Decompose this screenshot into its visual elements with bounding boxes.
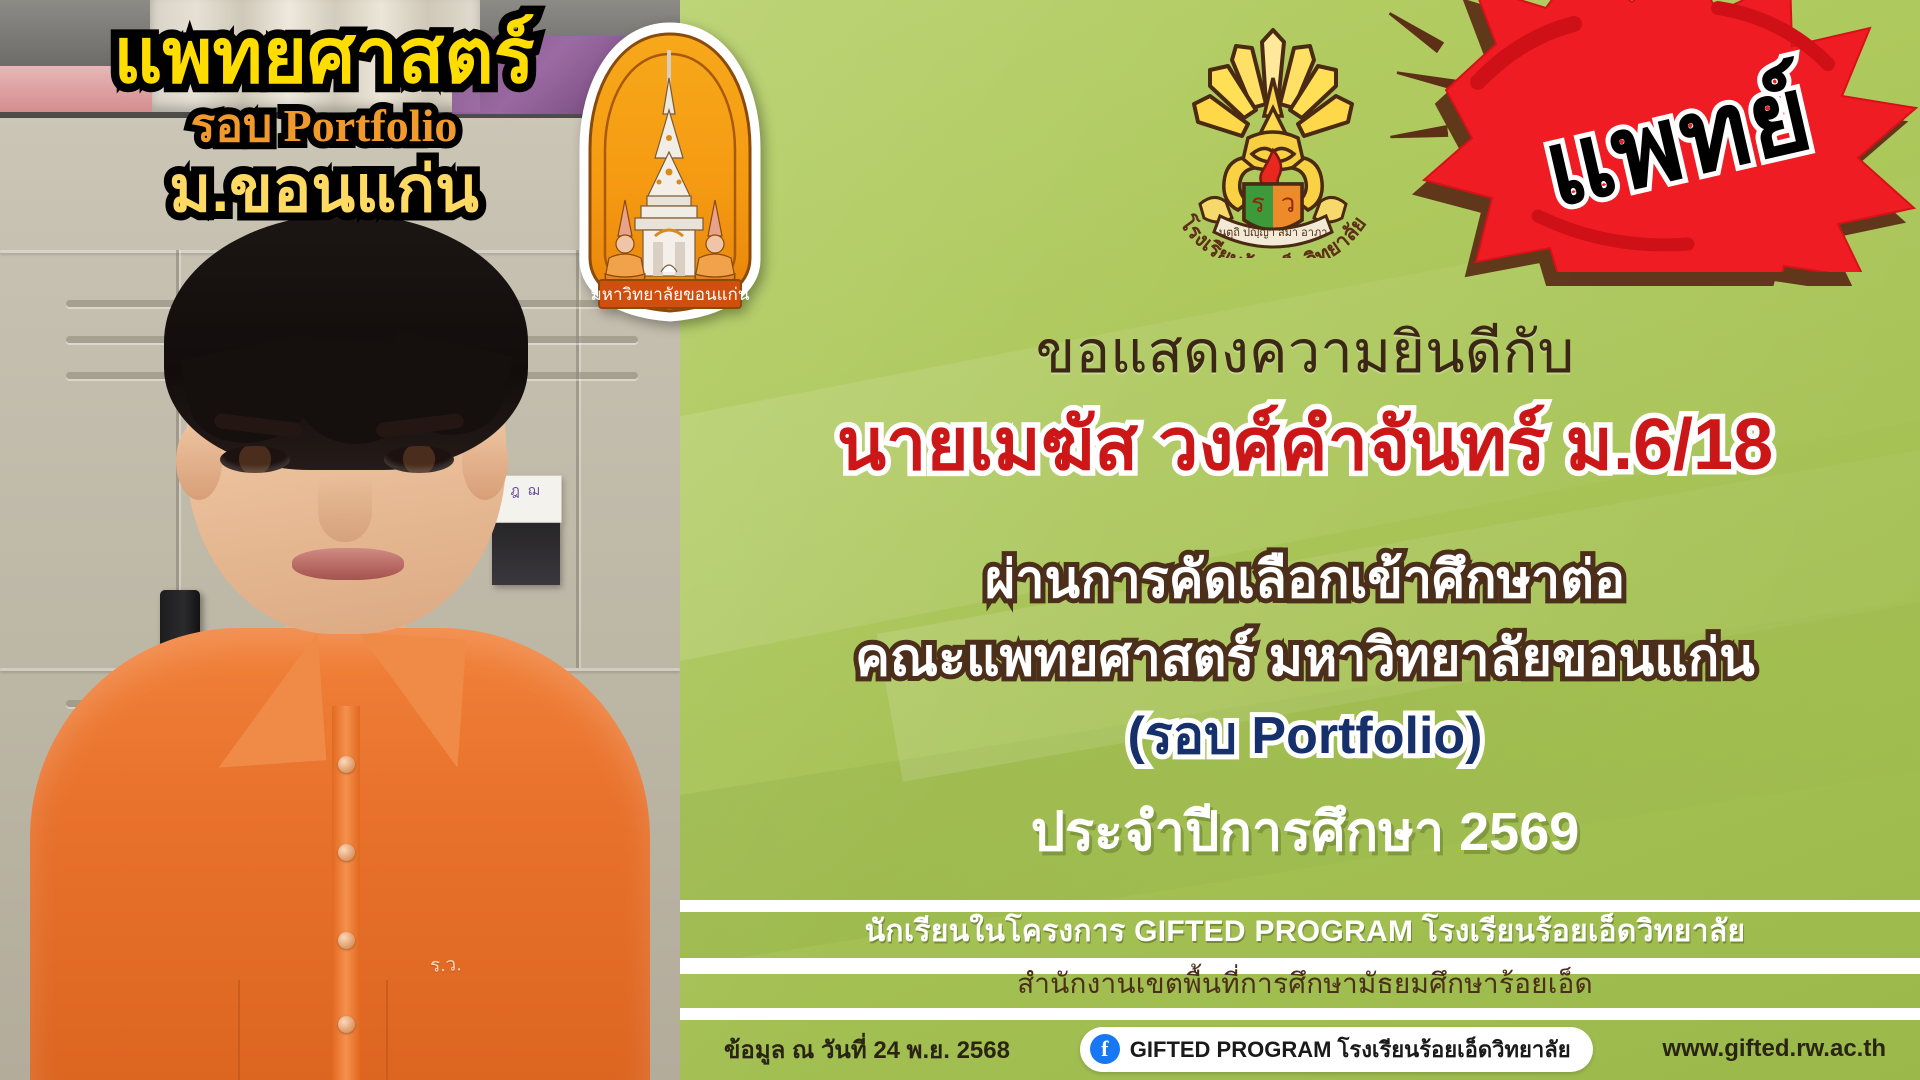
body-line-1: ผ่านการคัดเลือกเข้าศึกษาต่อ	[690, 550, 1920, 610]
headline-line3: ม.ขอนแก่น	[24, 154, 624, 226]
mouth	[292, 548, 404, 580]
facebook-icon: f	[1090, 1034, 1120, 1064]
congratulations-poster: ฎ ฌ ร.ว.	[0, 0, 1920, 1080]
kku-caption-text: มหาวิทยาลัยขอนแก่น	[591, 285, 750, 304]
svg-text:ว: ว	[1281, 188, 1296, 218]
footer-office-text: สำนักงานเขตพื้นที่การศึกษามัธยมศึกษาร้อย…	[690, 962, 1920, 1006]
svg-text:ร: ร	[1251, 188, 1265, 218]
academic-year-text: ประจำปีการศึกษา 2569	[690, 788, 1920, 874]
congratulations-text: ขอแสดงความยินดีกับ	[690, 305, 1920, 398]
shirt-collar-right	[350, 632, 467, 767]
headline-line2: รอบ Portfolio	[24, 98, 624, 154]
shirt-embroidery: ร.ว.	[429, 949, 462, 981]
headline-block: แพทยศาสตร์ รอบ Portfolio ม.ขอนแก่น	[24, 16, 624, 226]
footer-program-text: นักเรียนในโครงการ GIFTED PROGRAM โรงเรีย…	[690, 908, 1920, 955]
school-logo: ร ว นตฺถิ ปญฺญา สมา อาภา โรงเรียนร้อยเอ็…	[1148, 8, 1398, 258]
facebook-page-label: GIFTED PROGRAM โรงเรียนร้อยเอ็ดวิทยาลัย	[1130, 1032, 1571, 1067]
school-motto-text: นตฺถิ ปญฺญา สมา อาภา	[1219, 227, 1328, 239]
student-name-text: นายเมฆัส วงศ์คำจันทร์ ม.6/18	[690, 405, 1920, 486]
footer-divider	[680, 1008, 1920, 1020]
shirt-collar-left	[210, 632, 327, 767]
website-url-text[interactable]: www.gifted.rw.ac.th	[1662, 1035, 1886, 1063]
footer-bottom-row: ข้อมูล ณ วันที่ 24 พ.ย. 2568 f GIFTED PR…	[700, 1026, 1910, 1072]
shirt-button	[338, 844, 355, 861]
body-line-3: (รอบ Portfolio)	[690, 706, 1920, 766]
school-shield: ร ว	[1244, 184, 1302, 232]
facebook-pill[interactable]: f GIFTED PROGRAM โรงเรียนร้อยเอ็ดวิทยาลั…	[1080, 1027, 1593, 1072]
shirt-button	[338, 932, 355, 949]
body-line-2: คณะแพทยศาสตร์ มหาวิทยาลัยขอนแก่น	[690, 628, 1920, 688]
shirt-button	[338, 756, 355, 773]
eye-left	[220, 446, 290, 473]
headline-line1: แพทยศาสตร์	[24, 16, 624, 98]
shirt-pocket	[238, 980, 388, 1080]
footer-date-text: ข้อมูล ณ วันที่ 24 พ.ย. 2568	[724, 1030, 1010, 1069]
eye-right	[384, 446, 454, 473]
nose	[318, 478, 372, 542]
